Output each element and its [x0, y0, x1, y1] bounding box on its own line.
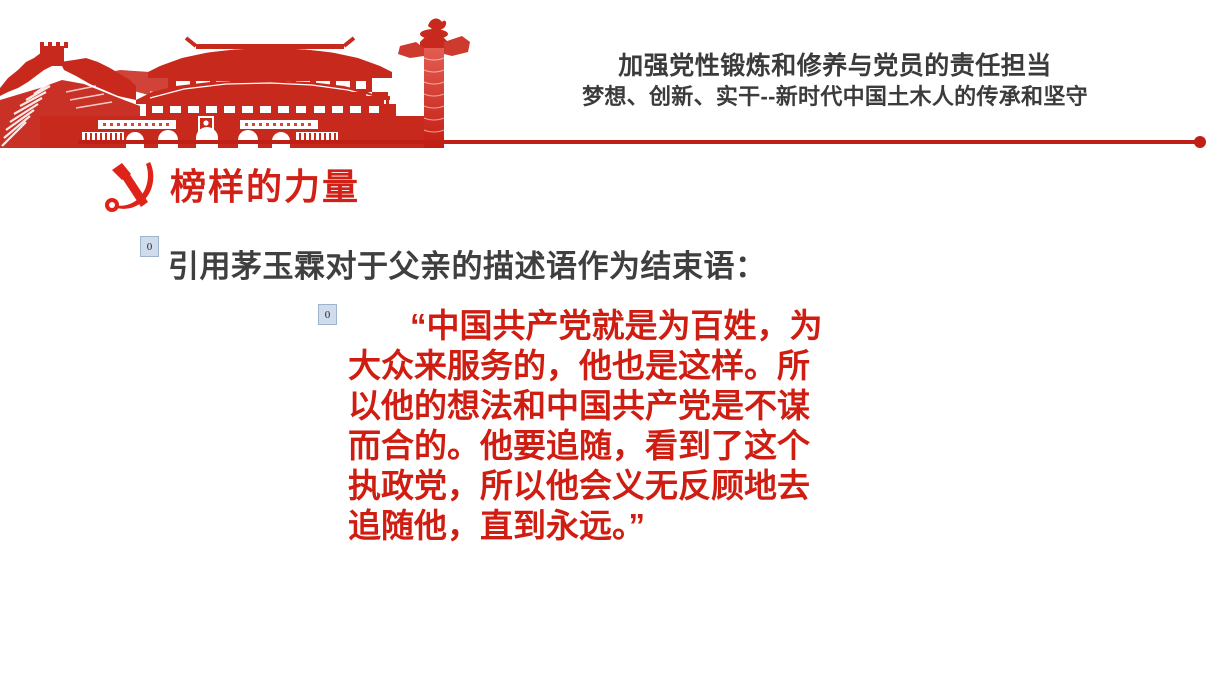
quote-line-text: 追随他，直到永远。”	[348, 507, 645, 544]
slide-canvas: 加强党性锻炼和修养与党员的责任担当 梦想、创新、实干--新时代中国土木人的传承和…	[0, 0, 1228, 680]
bullet-placeholder-2[interactable]: 0	[318, 304, 337, 325]
quote-line: 追随他，直到永远。”	[348, 506, 868, 546]
tiananmen-great-wall-huabiao-silhouette	[0, 0, 470, 152]
header-divider-line	[78, 140, 1200, 144]
quote-line-text: 大众来服务的，他也是这样。所	[348, 347, 810, 384]
bullet-placeholder-1[interactable]: 0	[140, 236, 159, 257]
lead-paragraph: 引用茅玉霖对于父亲的描述语作为结束语：	[168, 241, 767, 286]
quote-line-text: 而合的。他要追随，看到了这个	[348, 427, 810, 464]
section-title-text: 榜样的力量	[170, 169, 360, 205]
section-title-row: 榜样的力量	[100, 158, 360, 216]
header-title-group: 加强党性锻炼和修养与党员的责任担当 梦想、创新、实干--新时代中国土木人的传承和…	[470, 52, 1200, 110]
quote-line: “中国共产党就是为百姓，为	[348, 306, 868, 346]
cpc-hammer-sickle-emblem	[100, 158, 162, 216]
tiananmen-gate	[136, 38, 396, 116]
header-title-sub: 梦想、创新、实干--新时代中国土木人的传承和坚守	[470, 84, 1200, 110]
header-divider-dot	[1194, 136, 1206, 148]
quote-line: 以他的想法和中国共产党是不谋	[348, 386, 868, 426]
quote-block: “中国共产党就是为百姓，为 大众来服务的，他也是这样。所 以他的想法和中国共产党…	[348, 306, 868, 546]
quote-line: 而合的。他要追随，看到了这个	[348, 426, 868, 466]
quote-line-text: “中国共产党就是为百姓，为	[410, 307, 823, 344]
quote-line: 大众来服务的，他也是这样。所	[348, 346, 868, 386]
quote-line-text: 执政党，所以他会义无反顾地去	[348, 467, 810, 504]
header-title-main: 加强党性锻炼和修养与党员的责任担当	[470, 52, 1200, 82]
quote-line: 执政党，所以他会义无反顾地去	[348, 466, 868, 506]
quote-line-text: 以他的想法和中国共产党是不谋	[348, 387, 810, 424]
